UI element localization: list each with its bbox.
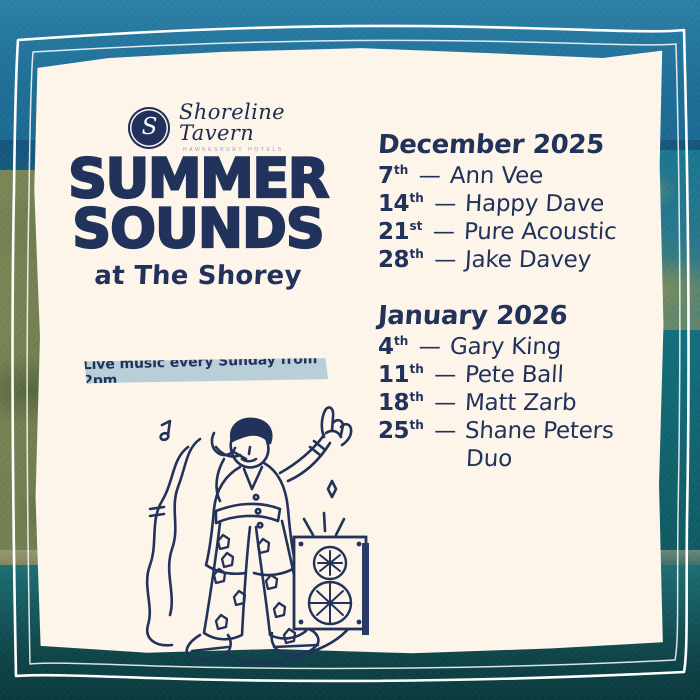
gig-ordinal: th (410, 247, 424, 261)
title-line-2: SOUNDS (33, 204, 363, 254)
gig-dash: — (419, 164, 441, 189)
gig-artist: Shane Peters (465, 418, 615, 444)
gig-row: 21st — Pure Acoustic (378, 219, 648, 245)
gig-artist: Happy Dave (465, 191, 605, 217)
singer-illustration (128, 397, 403, 672)
gig-dash: — (434, 419, 456, 444)
logo-monogram-letter: S (142, 116, 157, 139)
schedule-spacer (378, 275, 648, 301)
gig-dash: — (434, 248, 456, 273)
hair-strand-2 (169, 439, 200, 615)
gig-day: 7 (378, 163, 394, 189)
gig-row: 25th — Shane Peters (378, 418, 648, 444)
flower-motifs (214, 535, 295, 643)
gig-artist: Pete Ball (465, 362, 565, 388)
title-subtitle: at The Shorey (32, 261, 364, 291)
gig-day: 21 (378, 219, 409, 245)
info-ribbon: Live music every Sunday from 2pm (83, 357, 328, 384)
info-ribbon-text: Live music every Sunday from 2pm (83, 350, 329, 388)
gig-day: 11 (378, 362, 409, 388)
gig-artist-continuation: Duo (465, 446, 648, 472)
gig-row: 18th — Matt Zarb (378, 390, 648, 416)
gig-ordinal: st (410, 219, 423, 233)
gig-day: 4 (378, 334, 394, 360)
gig-row: 4th — Gary King (378, 334, 648, 360)
gig-row: 28th — Jake Davey (378, 247, 648, 273)
speaker-sound-lines (304, 513, 344, 535)
gig-artist: Matt Zarb (465, 390, 578, 416)
singer-buttons (254, 495, 262, 527)
month-heading: December 2025 (377, 130, 649, 160)
schedule-month-block: December 2025 7th — Ann Vee 14th — Happy… (378, 130, 648, 273)
schedule-month-block: January 2026 4th — Gary King 11th — Pete… (378, 301, 648, 472)
gig-day: 25 (378, 418, 409, 444)
gig-artist: Gary King (449, 334, 562, 360)
left-column: S Shoreline Tavern HAWKESBURY HOTELS SUM… (33, 42, 363, 657)
brand-logo: S Shoreline Tavern HAWKESBURY HOTELS (128, 102, 363, 153)
gig-row: 7th — Ann Vee (378, 163, 648, 189)
gig-dash: — (419, 335, 441, 360)
gig-ordinal: th (410, 362, 424, 376)
gig-dash: — (434, 363, 456, 388)
sparkle-icon (328, 481, 336, 497)
singer-hair (231, 419, 271, 443)
logo-brand-name: Shoreline Tavern (179, 102, 363, 144)
gig-dash: — (434, 192, 456, 217)
gig-artist: Ann Vee (449, 163, 543, 189)
page-title: SUMMER SOUNDS at The Shorey (33, 154, 363, 291)
music-note-icon (160, 421, 170, 441)
gig-ordinal: th (410, 191, 424, 205)
shoe-right-sole (274, 645, 318, 647)
poster: S Shoreline Tavern HAWKESBURY HOTELS SUM… (0, 0, 700, 700)
gig-day: 28 (378, 247, 409, 273)
gig-ordinal: th (410, 418, 424, 432)
gig-artist: Pure Acoustic (463, 219, 617, 245)
logo-monogram-icon: S (128, 107, 170, 149)
gig-row: 14th — Happy Dave (378, 191, 648, 217)
gig-day: 14 (378, 191, 409, 217)
singer-shirt (244, 467, 262, 489)
shoe-left-sole (192, 647, 228, 651)
gig-ordinal: th (394, 163, 408, 177)
gig-dash: — (434, 391, 456, 416)
schedule: December 2025 7th — Ann Vee 14th — Happy… (378, 130, 648, 472)
gig-artist: Jake Davey (465, 247, 592, 273)
gig-ordinal: th (394, 334, 408, 348)
gig-day: 18 (378, 390, 409, 416)
logo-wordmark: Shoreline Tavern HAWKESBURY HOTELS (179, 102, 363, 153)
speaker-icon (294, 537, 369, 635)
singer-sash (216, 504, 280, 523)
rock-hand-icon (322, 407, 351, 445)
gig-dash: — (433, 220, 455, 245)
gig-ordinal: th (410, 390, 424, 404)
month-heading: January 2026 (377, 301, 649, 331)
gig-row: 11th — Pete Ball (378, 362, 648, 388)
